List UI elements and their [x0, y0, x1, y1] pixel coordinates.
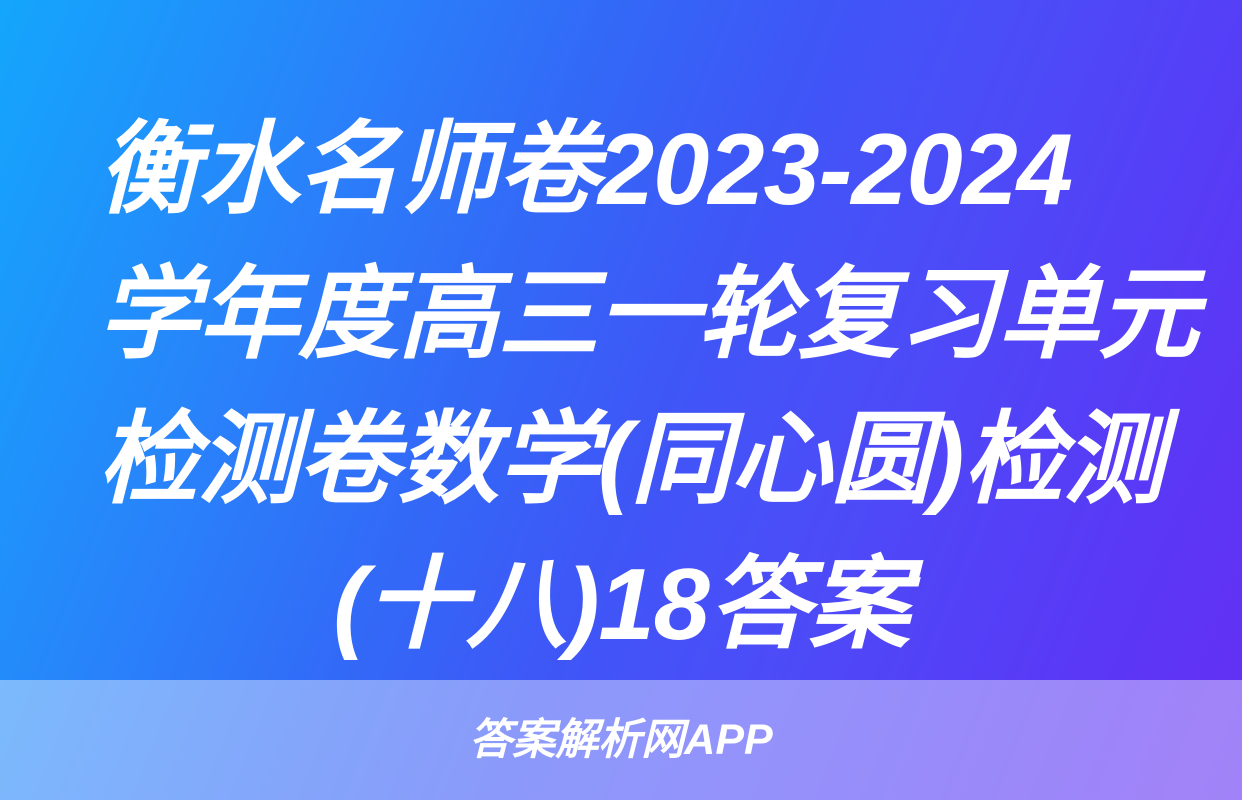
footer-watermark-band: 答案解析网APP — [0, 680, 1242, 800]
title-line-3: 检测卷数学(同心圆)检测 — [0, 388, 1242, 533]
title-line-2: 学年度高三一轮复习单元 — [0, 243, 1242, 388]
answer-poster: 衡水名师卷2023-2024 学年度高三一轮复习单元 检测卷数学(同心圆)检测 … — [0, 0, 1242, 800]
title-line-4: (十八)18答案 — [0, 533, 1242, 678]
app-watermark-label: 答案解析网APP — [469, 719, 772, 762]
poster-title-block: 衡水名师卷2023-2024 学年度高三一轮复习单元 检测卷数学(同心圆)检测 … — [0, 0, 1242, 678]
title-line-1: 衡水名师卷2023-2024 — [0, 98, 1242, 243]
